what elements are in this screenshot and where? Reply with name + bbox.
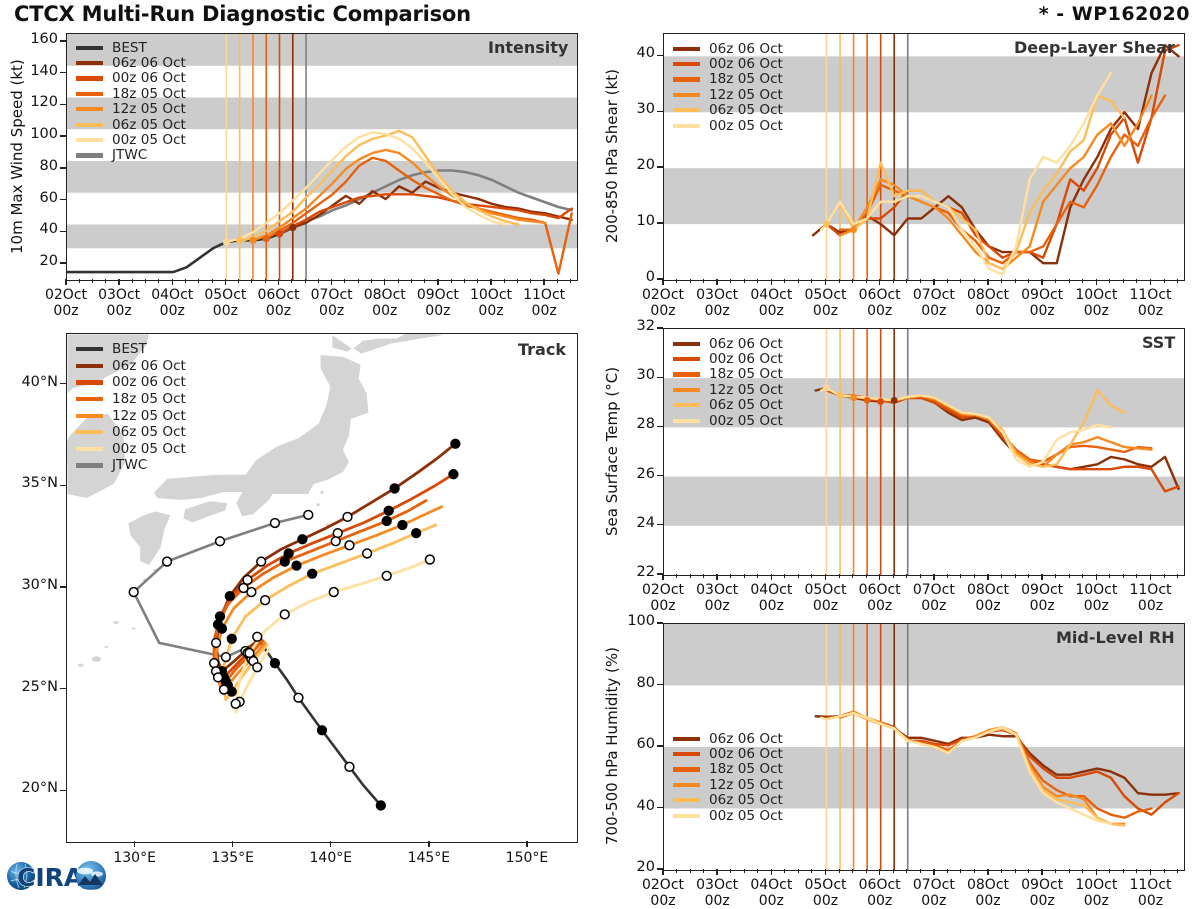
x-tick-mark: [933, 279, 934, 285]
y-tick-mark: [60, 104, 66, 105]
x-minor-tick: [947, 869, 948, 873]
x-minor-tick: [784, 869, 785, 873]
legend-item[interactable]: 06z 06 Oct: [673, 336, 783, 351]
track-marker-12z: [261, 596, 270, 605]
x-tick-mark: [771, 869, 772, 875]
x-tick-mark: [543, 279, 544, 285]
legend-label: 06z 05 Oct: [112, 117, 186, 133]
x-minor-tick: [557, 279, 558, 283]
x-tick-mark: [331, 279, 332, 285]
track-marker-00z: [449, 470, 458, 479]
legend-item[interactable]: 12z 05 Oct: [76, 407, 186, 424]
track-marker-12z: [304, 510, 313, 519]
x-tick-mark: [1096, 574, 1097, 580]
legend-label: 12z 05 Oct: [709, 87, 783, 103]
track-marker-00z: [384, 506, 393, 515]
legend-color-swatch: [673, 108, 700, 112]
y-axis-label: 700-500 hPa Humidity (%): [603, 647, 621, 845]
track-marker-00z: [292, 561, 301, 570]
legend-label: BEST: [112, 341, 147, 357]
island: [113, 621, 119, 625]
track-marker-00z: [216, 612, 225, 621]
x-minor-tick: [1136, 869, 1137, 873]
y-tick-mark: [657, 622, 663, 623]
legend-item[interactable]: 06z 06 Oct: [76, 55, 186, 70]
legend-label: 06z 06 Oct: [709, 731, 783, 747]
x-tick-mark: [825, 574, 826, 580]
x-tick-mark: [1041, 869, 1042, 875]
x-minor-tick: [811, 574, 812, 578]
chart-legend: 06z 06 Oct00z 06 Oct18z 05 Oct12z 05 Oct…: [673, 336, 783, 428]
legend-color-swatch: [673, 767, 700, 771]
legend-color-swatch: [673, 388, 700, 392]
panel-title: Intensity: [488, 38, 568, 57]
x-tick-mark: [172, 279, 173, 285]
island: [91, 656, 101, 662]
track-marker-00z: [398, 521, 407, 530]
lat-tick-mark: [60, 586, 66, 587]
x-minor-tick: [1164, 869, 1165, 873]
legend-item[interactable]: 18z 05 Oct: [673, 762, 783, 777]
track-marker-00z: [298, 535, 307, 544]
legend-item[interactable]: BEST: [76, 341, 186, 358]
x-minor-tick: [960, 279, 961, 283]
x-tick-mark: [662, 574, 663, 580]
y-tick-mark: [60, 231, 66, 232]
y-tick-label: 20: [611, 859, 655, 875]
x-minor-tick: [866, 279, 867, 283]
x-minor-tick: [866, 574, 867, 578]
x-minor-tick: [920, 869, 921, 873]
x-tick-label: 11Oct00z: [1111, 583, 1191, 614]
y-axis-label: 10m Max Wind Speed (kt): [8, 59, 26, 254]
track-marker-12z: [163, 557, 172, 566]
x-minor-tick: [1055, 574, 1056, 578]
track-marker-00z: [412, 529, 421, 538]
legend-item[interactable]: 00z 06 Oct: [673, 351, 783, 366]
legend-label: 06z 06 Oct: [709, 41, 783, 57]
x-minor-tick: [265, 279, 266, 283]
x-tick-mark: [1096, 279, 1097, 285]
x-minor-tick: [198, 279, 199, 283]
x-minor-tick: [839, 869, 840, 873]
x-minor-tick: [318, 279, 319, 283]
init-marker: [850, 226, 857, 233]
legend-color-swatch: [673, 372, 700, 376]
legend-item[interactable]: 06z 05 Oct: [673, 103, 783, 118]
x-minor-tick: [451, 279, 452, 283]
legend-item[interactable]: 06z 06 Oct: [673, 731, 783, 746]
lon-tick-mark: [134, 841, 135, 847]
legend-label: 00z 06 Oct: [709, 351, 783, 367]
x-minor-tick: [1069, 574, 1070, 578]
legend-label: 06z 05 Oct: [112, 424, 186, 440]
track-marker-12z: [257, 557, 266, 566]
y-tick-label: 32: [611, 318, 655, 334]
lon-tick-label: 145°E: [384, 851, 474, 867]
legend-label: 00z 05 Oct: [112, 441, 186, 457]
legend-label: 06z 06 Oct: [112, 358, 186, 374]
track-marker-00z: [218, 624, 227, 633]
legend-label: 00z 05 Oct: [709, 118, 783, 134]
x-minor-tick: [676, 869, 677, 873]
x-minor-tick: [92, 279, 93, 283]
legend-item[interactable]: 06z 06 Oct: [76, 358, 186, 375]
x-tick-mark: [879, 869, 880, 875]
x-minor-tick: [371, 279, 372, 283]
x-tick-mark: [384, 279, 385, 285]
legend-item[interactable]: 00z 05 Oct: [673, 118, 783, 133]
legend-color-swatch: [76, 107, 103, 111]
panel-title: SST: [1142, 333, 1175, 352]
y-tick-mark: [657, 426, 663, 427]
x-minor-tick: [730, 869, 731, 873]
x-minor-tick: [974, 574, 975, 578]
y-tick-label: 100: [611, 613, 655, 629]
legend-item[interactable]: 00z 06 Oct: [76, 374, 186, 391]
legend-item[interactable]: JTWC: [76, 148, 186, 163]
x-minor-tick: [1055, 279, 1056, 283]
x-minor-tick: [730, 574, 731, 578]
x-minor-tick: [703, 279, 704, 283]
x-tick-mark: [662, 869, 663, 875]
x-minor-tick: [477, 279, 478, 283]
track-marker-00z: [280, 557, 289, 566]
x-minor-tick: [570, 279, 571, 283]
island: [78, 663, 84, 667]
shaded-band: [664, 477, 1184, 526]
island: [131, 627, 135, 630]
legend-label: 18z 05 Oct: [112, 86, 186, 102]
x-minor-tick: [893, 574, 894, 578]
x-minor-tick: [757, 574, 758, 578]
legend-item[interactable]: 00z 06 Oct: [76, 71, 186, 86]
x-minor-tick: [947, 574, 948, 578]
x-minor-tick: [920, 574, 921, 578]
x-tick-mark: [716, 279, 717, 285]
chart-legend: 06z 06 Oct00z 06 Oct18z 05 Oct12z 05 Oct…: [673, 41, 783, 133]
lon-tick-label: 140°E: [286, 851, 376, 867]
x-minor-tick: [1082, 574, 1083, 578]
x-minor-tick: [1001, 574, 1002, 578]
x-minor-tick: [811, 869, 812, 873]
legend-color-swatch: [76, 92, 103, 96]
y-tick-mark: [657, 166, 663, 167]
legend-label: 12z 05 Oct: [709, 382, 783, 398]
legend-item[interactable]: 00z 05 Oct: [76, 132, 186, 147]
x-minor-tick: [344, 279, 345, 283]
track-marker-12z: [231, 699, 240, 708]
x-minor-tick: [517, 279, 518, 283]
lon-tick-label: 150°E: [482, 851, 572, 867]
legend-color-swatch: [673, 77, 700, 81]
x-minor-tick: [398, 279, 399, 283]
legend-label: 00z 05 Oct: [112, 132, 186, 148]
landmass: [183, 501, 228, 523]
legend-item[interactable]: 18z 05 Oct: [673, 72, 783, 87]
legend-color-swatch: [673, 357, 700, 361]
x-minor-tick: [893, 279, 894, 283]
x-minor-tick: [1177, 574, 1178, 578]
x-minor-tick: [852, 279, 853, 283]
chart-legend: BEST06z 06 Oct00z 06 Oct18z 05 Oct12z 05…: [76, 40, 186, 163]
track-marker-00z: [271, 659, 280, 668]
y-tick-mark: [60, 135, 66, 136]
legend-label: 06z 06 Oct: [709, 336, 783, 352]
legend-color-swatch: [76, 138, 103, 142]
legend-label: 18z 05 Oct: [709, 761, 783, 777]
x-minor-tick: [1001, 279, 1002, 283]
svg-text:CIRA: CIRA: [17, 863, 84, 892]
legend-color-swatch: [76, 123, 103, 127]
lat-tick-label: 25°N: [4, 679, 58, 695]
y-tick-mark: [657, 745, 663, 746]
x-tick-mark: [987, 869, 988, 875]
landmass: [332, 334, 450, 354]
legend-item[interactable]: 06z 05 Oct: [76, 424, 186, 441]
x-minor-tick: [79, 279, 80, 283]
panel-title: Track: [518, 340, 566, 359]
legend-label: 12z 05 Oct: [112, 101, 186, 117]
x-tick-mark: [437, 279, 438, 285]
track-marker-12z: [294, 693, 303, 702]
x-minor-tick: [757, 869, 758, 873]
x-tick-mark: [490, 279, 491, 285]
x-minor-tick: [893, 869, 894, 873]
init-marker: [850, 394, 857, 401]
x-tick-mark: [879, 574, 880, 580]
x-tick-mark: [225, 279, 226, 285]
x-minor-tick: [676, 574, 677, 578]
x-minor-tick: [1055, 869, 1056, 873]
x-tick-mark: [278, 279, 279, 285]
track-marker-12z: [329, 588, 338, 597]
x-minor-tick: [1123, 574, 1124, 578]
x-minor-tick: [757, 279, 758, 283]
x-minor-tick: [906, 869, 907, 873]
y-tick-label: 20: [14, 253, 58, 269]
x-tick-mark: [933, 574, 934, 580]
track-marker-12z: [333, 529, 342, 538]
x-tick-mark: [987, 279, 988, 285]
legend-color-swatch: [673, 403, 700, 407]
x-minor-tick: [839, 574, 840, 578]
lon-tick-label: 135°E: [188, 851, 278, 867]
x-tick-mark: [1041, 279, 1042, 285]
legend-item[interactable]: 18z 05 Oct: [673, 367, 783, 382]
track-legend: BEST06z 06 Oct00z 06 Oct18z 05 Oct12z 05…: [76, 341, 186, 474]
legend-item[interactable]: 18z 05 Oct: [76, 86, 186, 101]
x-minor-tick: [744, 574, 745, 578]
x-minor-tick: [1109, 869, 1110, 873]
x-minor-tick: [1069, 279, 1070, 283]
legend-item[interactable]: 12z 05 Oct: [673, 382, 783, 397]
x-minor-tick: [906, 279, 907, 283]
y-tick-mark: [657, 377, 663, 378]
legend-item[interactable]: 12z 05 Oct: [673, 87, 783, 102]
lat-tick-label: 20°N: [4, 780, 58, 796]
legend-color-swatch: [673, 752, 700, 756]
track-marker-12z: [247, 588, 256, 597]
x-tick-label: 11Oct00z: [1111, 288, 1191, 319]
x-minor-tick: [291, 279, 292, 283]
legend-item[interactable]: 00z 05 Oct: [673, 808, 783, 823]
legend-label: JTWC: [112, 147, 147, 163]
track-marker-00z: [318, 726, 327, 735]
x-minor-tick: [424, 279, 425, 283]
x-tick-label: 11Oct00z: [504, 288, 584, 319]
legend-label: 00z 05 Oct: [709, 413, 783, 429]
y-tick-mark: [657, 327, 663, 328]
legend-item[interactable]: BEST: [76, 40, 186, 55]
legend-item[interactable]: 06z 05 Oct: [76, 117, 186, 132]
x-minor-tick: [839, 279, 840, 283]
init-marker: [864, 397, 871, 404]
x-minor-tick: [504, 279, 505, 283]
legend-color-swatch: [673, 737, 700, 741]
legend-color-swatch: [673, 783, 700, 787]
init-marker: [223, 238, 230, 245]
init-marker: [877, 398, 884, 405]
island: [104, 646, 108, 649]
y-tick-mark: [60, 199, 66, 200]
track-marker-12z: [214, 673, 223, 682]
x-minor-tick: [212, 279, 213, 283]
x-tick-mark: [1150, 869, 1151, 875]
x-tick-mark: [1096, 869, 1097, 875]
legend-color-swatch: [673, 814, 700, 818]
init-marker: [263, 235, 270, 242]
shaded-band: [67, 224, 577, 248]
x-minor-tick: [703, 574, 704, 578]
x-minor-tick: [852, 574, 853, 578]
track-marker-00z: [382, 517, 391, 526]
x-minor-tick: [1136, 279, 1137, 283]
legend-color-swatch: [673, 798, 700, 802]
track-marker-00z: [451, 439, 460, 448]
track-marker-12z: [253, 663, 262, 672]
legend-item[interactable]: JTWC: [76, 457, 186, 474]
x-tick-mark: [933, 869, 934, 875]
lon-tick-mark: [526, 841, 527, 847]
init-marker: [236, 237, 243, 244]
x-minor-tick: [145, 279, 146, 283]
init-marker: [249, 237, 256, 244]
legend-color-swatch: [76, 364, 103, 368]
page-title: CTCX Multi-Run Diagnostic Comparison: [14, 2, 471, 26]
y-tick-mark: [657, 807, 663, 808]
legend-item[interactable]: 00z 05 Oct: [673, 413, 783, 428]
x-minor-tick: [690, 869, 691, 873]
track-marker-12z: [425, 555, 434, 564]
x-minor-tick: [866, 869, 867, 873]
x-minor-tick: [1123, 869, 1124, 873]
x-minor-tick: [464, 279, 465, 283]
legend-item[interactable]: 06z 05 Oct: [673, 793, 783, 808]
x-minor-tick: [703, 869, 704, 873]
legend-label: 00z 06 Oct: [112, 374, 186, 390]
x-minor-tick: [238, 279, 239, 283]
x-minor-tick: [798, 279, 799, 283]
x-minor-tick: [305, 279, 306, 283]
lon-tick-mark: [232, 841, 233, 847]
x-tick-mark: [65, 279, 66, 285]
x-tick-mark: [879, 279, 880, 285]
lat-tick-mark: [60, 790, 66, 791]
lat-tick-label: 40°N: [4, 374, 58, 390]
legend-item[interactable]: 18z 05 Oct: [76, 391, 186, 408]
track-marker-12z: [382, 571, 391, 580]
x-tick-mark: [716, 574, 717, 580]
track-marker-00z: [390, 484, 399, 493]
legend-item[interactable]: 00z 06 Oct: [673, 746, 783, 761]
legend-item[interactable]: 06z 06 Oct: [673, 41, 783, 56]
y-tick-mark: [657, 684, 663, 685]
legend-item[interactable]: 06z 05 Oct: [673, 398, 783, 413]
legend-color-swatch: [76, 463, 103, 467]
x-minor-tick: [1082, 869, 1083, 873]
panel-title: Deep-Layer Shear: [1014, 38, 1175, 57]
x-minor-tick: [906, 574, 907, 578]
legend-label: 18z 05 Oct: [112, 391, 186, 407]
legend-color-swatch: [76, 61, 103, 65]
legend-label: 06z 05 Oct: [709, 397, 783, 413]
x-minor-tick: [1109, 279, 1110, 283]
track-marker-00z: [376, 801, 385, 810]
track-marker-00z: [227, 634, 236, 643]
track-marker-12z: [245, 649, 254, 658]
x-tick-mark: [771, 279, 772, 285]
legend-item[interactable]: 00z 05 Oct: [76, 441, 186, 458]
island: [320, 491, 323, 494]
track-marker-00z: [308, 569, 317, 578]
y-tick-mark: [60, 40, 66, 41]
track-marker-12z: [216, 537, 225, 546]
y-tick-mark: [60, 262, 66, 263]
legend-item[interactable]: 00z 06 Oct: [673, 56, 783, 71]
track-marker-12z: [253, 632, 262, 641]
legend-item[interactable]: 12z 05 Oct: [673, 777, 783, 792]
track-marker-12z: [210, 659, 219, 668]
track-marker-00z: [225, 592, 234, 601]
init-marker: [823, 385, 830, 392]
x-minor-tick: [1136, 574, 1137, 578]
legend-label: 12z 05 Oct: [709, 777, 783, 793]
track-marker-12z: [363, 549, 372, 558]
x-tick-mark: [1150, 574, 1151, 580]
x-tick-mark: [1041, 574, 1042, 580]
track-marker-12z: [129, 588, 138, 597]
x-minor-tick: [1082, 279, 1083, 283]
x-minor-tick: [1028, 869, 1029, 873]
x-tick-mark: [118, 279, 119, 285]
y-tick-label: 40: [611, 45, 655, 61]
x-tick-mark: [716, 869, 717, 875]
x-minor-tick: [1015, 574, 1016, 578]
lon-tick-mark: [330, 841, 331, 847]
track-marker-12z: [331, 537, 340, 546]
x-tick-mark: [1150, 279, 1151, 285]
x-minor-tick: [960, 574, 961, 578]
track-marker-12z: [220, 685, 229, 694]
track-marker-12z: [271, 519, 280, 528]
y-tick-mark: [657, 475, 663, 476]
legend-item[interactable]: 12z 05 Oct: [76, 102, 186, 117]
x-minor-tick: [798, 869, 799, 873]
x-minor-tick: [1123, 279, 1124, 283]
legend-label: 06z 06 Oct: [112, 55, 186, 71]
x-minor-tick: [811, 279, 812, 283]
